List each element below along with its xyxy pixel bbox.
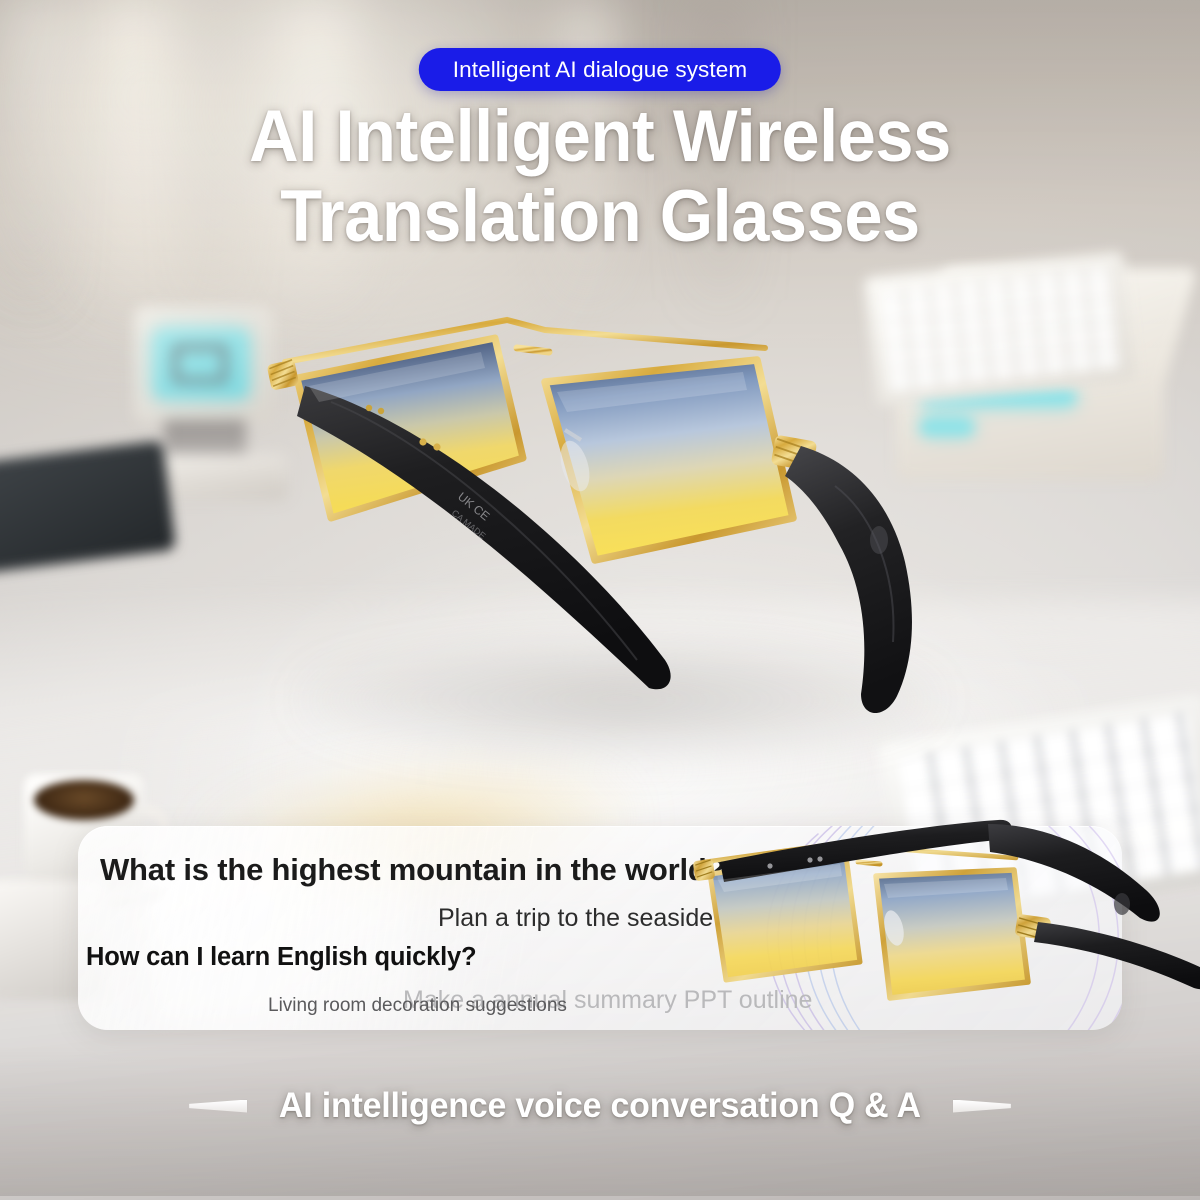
qa-question-1: What is the highest mountain in the worl… xyxy=(100,852,725,888)
qa-question-5: Living room decoration suggestions xyxy=(268,995,567,1017)
ai-dialogue-badge: Intelligent AI dialogue system xyxy=(419,48,781,91)
qa-question-3: How can I learn English quickly? xyxy=(86,943,476,972)
hero-product-glasses: UK CE CA MADE xyxy=(245,290,945,720)
page-title-line2: Translation Glasses xyxy=(36,180,1164,254)
footer-banner: AI intelligence voice conversation Q & A xyxy=(0,1076,1200,1136)
right-wedge-decoration-icon xyxy=(953,1100,1011,1113)
qa-question-2: Plan a trip to the seaside xyxy=(438,904,713,933)
page-title-line1: AI Intelligent Wireless xyxy=(36,100,1164,174)
product-poster: Intelligent AI dialogue system AI Intell… xyxy=(0,0,1200,1200)
left-wedge-decoration-icon xyxy=(189,1100,247,1113)
page-title: AI Intelligent Wireless Translation Glas… xyxy=(0,100,1200,255)
footer-caption: AI intelligence voice conversation Q & A xyxy=(279,1086,921,1126)
left-hinge xyxy=(267,359,300,390)
right-temple-arm xyxy=(785,446,912,713)
qa-panel: What is the highest mountain in the worl… xyxy=(78,826,1122,1030)
